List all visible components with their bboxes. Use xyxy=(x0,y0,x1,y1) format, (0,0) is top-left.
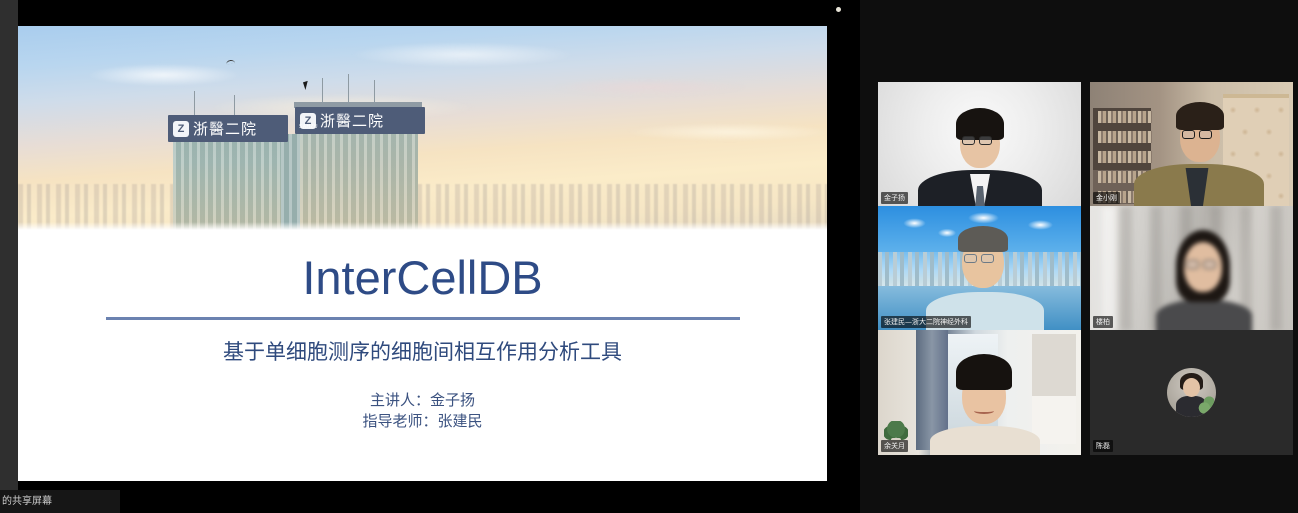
antenna xyxy=(374,80,375,102)
blurred-subject xyxy=(1090,206,1293,331)
participant-name: 余关月 xyxy=(881,440,908,452)
eyeglasses-icon xyxy=(964,254,994,263)
hospital-sign-left-text: 浙醫二院 xyxy=(193,118,257,139)
books xyxy=(1098,151,1152,163)
sahzu-logo-icon: Z xyxy=(173,121,189,137)
torso xyxy=(1156,300,1252,331)
participant-name: 楼柏 xyxy=(1093,316,1113,328)
eyeglasses-icon xyxy=(1182,130,1212,139)
antenna xyxy=(194,91,195,115)
advisor-line: 指导老师：张建民 xyxy=(18,411,827,432)
participant-grid: 金子扬 金小刚 xyxy=(860,0,1298,513)
participant-tile[interactable]: 张建民—浙大二院神经外科 xyxy=(878,206,1081,331)
video-feed xyxy=(878,82,1081,207)
slide-subtitle: 基于单细胞测序的细胞间相互作用分析工具 xyxy=(18,336,827,366)
video-feed xyxy=(1090,82,1293,207)
avatar-plant xyxy=(1198,396,1214,416)
participant-tile[interactable]: 余关月 xyxy=(878,330,1081,455)
hospital-sign-left: Z 浙醫二院 xyxy=(168,115,288,142)
meeting-window: Z 浙醫二院 Z 浙醫二院 SAHZU InterCellDB 基于单细胞测序的… xyxy=(0,0,1298,513)
hospital-sign-right: Z 浙醫二院 SAHZU xyxy=(295,107,425,134)
books xyxy=(1098,131,1152,143)
shared-screen-stage[interactable]: Z 浙醫二院 Z 浙醫二院 SAHZU InterCellDB 基于单细胞测序的… xyxy=(18,0,860,513)
presentation-slide: Z 浙醫二院 Z 浙醫二院 SAHZU InterCellDB 基于单细胞测序的… xyxy=(18,26,827,481)
participant-tile[interactable]: 楼柏 xyxy=(1090,206,1293,331)
hospital-sign-english-text: SAHZU xyxy=(299,124,318,130)
smile xyxy=(974,408,994,414)
slide-divider xyxy=(106,317,740,320)
participant-name: 张建民—浙大二院神经外科 xyxy=(881,316,971,328)
participant-name: 金子扬 xyxy=(881,192,908,204)
screen-share-indicator-dot xyxy=(836,7,841,12)
hero-fade xyxy=(18,222,827,230)
slide-title: InterCellDB xyxy=(18,250,827,305)
video-feed xyxy=(878,330,1081,455)
left-rail xyxy=(0,0,18,513)
antenna xyxy=(348,74,349,102)
participant-tile[interactable]: 陈磊 xyxy=(1090,330,1293,455)
participant-tile[interactable]: 金子扬 xyxy=(878,82,1081,207)
slide-hero-image: Z 浙醫二院 Z 浙醫二院 SAHZU xyxy=(18,26,827,230)
eyeglasses-icon xyxy=(1186,260,1216,269)
video-feed xyxy=(878,206,1081,331)
screen-share-status-text: 的共享屏幕 xyxy=(0,490,120,513)
participant-name: 陈磊 xyxy=(1093,440,1113,452)
antenna xyxy=(234,95,235,115)
video-feed xyxy=(1090,206,1293,331)
antenna xyxy=(322,78,323,102)
books xyxy=(1098,111,1152,123)
hair xyxy=(958,226,1008,252)
presenter-line: 主讲人：金子扬 xyxy=(18,390,827,411)
slide-credits: 主讲人：金子扬 指导老师：张建民 xyxy=(18,390,827,433)
hospital-sign-right-text: 浙醫二院 xyxy=(320,110,384,131)
hair xyxy=(1176,102,1224,130)
hair xyxy=(956,354,1012,390)
camera-off-placeholder xyxy=(1090,330,1293,455)
avatar-face xyxy=(1183,378,1200,397)
participant-tile[interactable]: 金小刚 xyxy=(1090,82,1293,207)
participant-name: 金小刚 xyxy=(1093,192,1120,204)
avatar xyxy=(1167,368,1216,417)
shelving-unit xyxy=(1032,334,1076,444)
eyeglasses-icon xyxy=(962,136,992,145)
torso xyxy=(930,426,1040,455)
